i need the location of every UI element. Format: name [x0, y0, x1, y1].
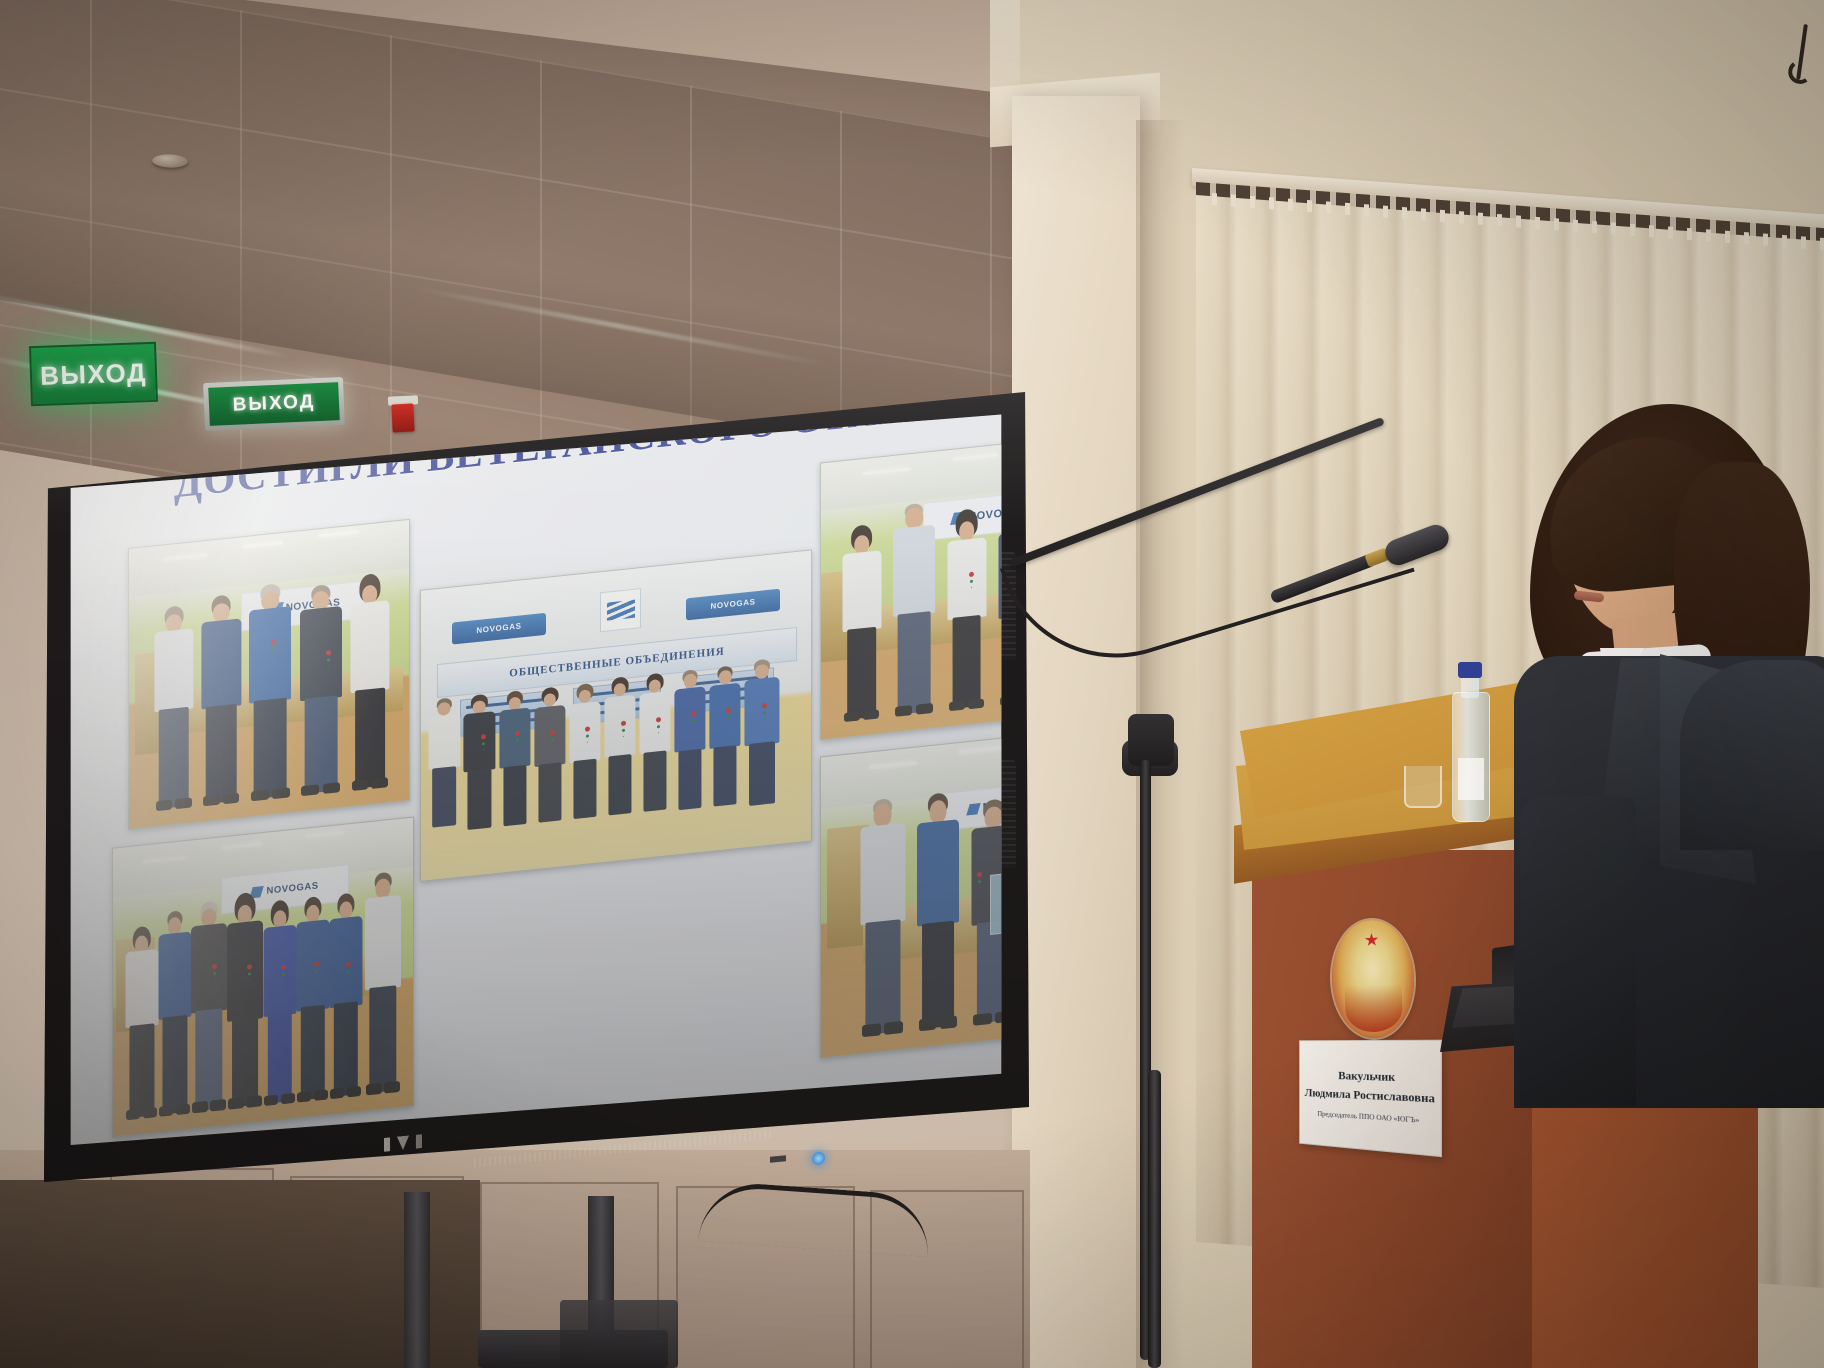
photo-person	[947, 507, 986, 710]
photo-person	[350, 572, 389, 789]
speaker-arm	[1520, 796, 1636, 1106]
photo-person	[893, 501, 935, 715]
microphone-stand-lower-pole	[1148, 1070, 1161, 1368]
slide-photo-bottom-left: NOVOGAS	[112, 817, 414, 1138]
photo-person	[158, 910, 191, 1115]
slide-photo-top-right: NOVOGAS	[820, 431, 1006, 740]
exit-sign-label: ВЫХОД	[40, 357, 148, 392]
photo-person	[227, 891, 263, 1108]
display-screen[interactable]: ДОСТИГЛИ ВЕТЕРАНСКОГО СТАЖА NOVOGAS	[66, 410, 1006, 1160]
water-bottle-cap-icon	[1458, 662, 1482, 678]
photo-person	[365, 871, 401, 1094]
backdrop-brand: NOVOGAS	[266, 880, 318, 896]
photo-person	[263, 899, 296, 1104]
photo-person	[296, 895, 329, 1100]
photo-person	[429, 697, 460, 828]
photo-person	[125, 925, 158, 1118]
photo-person	[675, 669, 706, 811]
photo-person	[745, 658, 780, 807]
photo-person	[917, 791, 959, 1029]
photo-person	[464, 693, 495, 830]
microphone-clamp[interactable]	[1128, 714, 1174, 766]
tab-label: NOVOGAS	[710, 597, 755, 611]
nameplate: Вакульчик Людмила Ростиславовна Председа…	[1299, 1040, 1442, 1157]
tv-stand-leg	[404, 1192, 430, 1368]
photo-person	[860, 797, 905, 1036]
screenshot-root: ВЫХОД ВЫХОД ДОСТИГЛИ ВЕТЕРАНСКОГО СТАЖА	[0, 0, 1824, 1368]
photo-person	[710, 665, 741, 807]
slide-photo-top-left: NOVOGAS	[128, 519, 410, 830]
display-ir-receiver-icon	[770, 1155, 786, 1163]
slide-photo-center: NOVOGAS NOVOGAS ОБЩЕСТВЕННЫЕ ОБЪЕДИНЕНИЯ	[420, 549, 812, 882]
novogas-logo-icon	[607, 600, 635, 621]
photo-person	[191, 900, 227, 1111]
nameplate-surname: Вакульчик	[1338, 1069, 1395, 1086]
display-power-led-icon[interactable]	[812, 1151, 825, 1165]
photo-person	[499, 690, 530, 827]
photo-person	[534, 686, 565, 823]
speaker-shoulder	[1680, 660, 1824, 850]
photo-person	[300, 583, 342, 795]
presentation-slide: ДОСТИГЛИ ВЕТЕРАНСКОГО СТАЖА NOVOGAS	[90, 410, 990, 1160]
nameplate-role: Председатель ППО ОАО «ЮГЪ»	[1317, 1109, 1419, 1125]
tv-stand-foot	[560, 1300, 678, 1368]
photo-person	[154, 604, 193, 810]
photo-person	[249, 583, 291, 800]
speaker-person	[1508, 404, 1824, 1104]
photo-person	[971, 797, 1006, 1024]
nameplate-given-name: Людмила Ростиславовна	[1305, 1087, 1435, 1106]
photo-person	[329, 892, 362, 1097]
water-bottle[interactable]	[1452, 692, 1490, 822]
water-bottle-label	[1458, 758, 1484, 800]
drinking-glass[interactable]	[1404, 766, 1442, 808]
wall-display[interactable]: ДОСТИГЛИ ВЕТЕРАНСКОГО СТАЖА NOVOGAS	[44, 392, 1044, 1192]
photo-person	[202, 593, 241, 804]
slide-photo-bottom-right: NOVOGAS	[820, 725, 1006, 1058]
photo-person	[639, 672, 670, 812]
photo-person	[569, 682, 600, 819]
tab-label: NOVOGAS	[476, 622, 521, 636]
photo-person	[604, 676, 635, 816]
photo-logo-plate	[600, 588, 641, 632]
photo-person	[842, 524, 881, 721]
